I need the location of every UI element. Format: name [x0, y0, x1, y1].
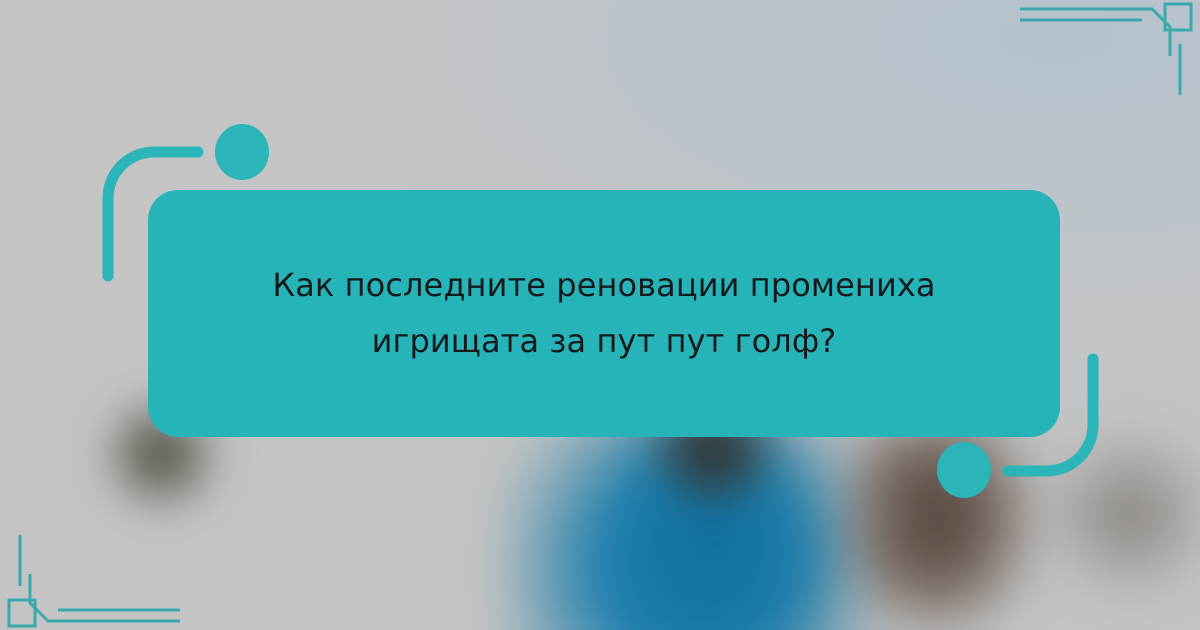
- question-card: Как последните реновации промениха игрищ…: [148, 190, 1060, 437]
- dot-bottom-right-icon: [937, 442, 991, 498]
- slide-canvas: Как последните реновации промениха игрищ…: [0, 0, 1200, 630]
- dot-top-left-icon: [215, 124, 269, 180]
- question-text: Как последните реновации промениха игрищ…: [254, 258, 954, 368]
